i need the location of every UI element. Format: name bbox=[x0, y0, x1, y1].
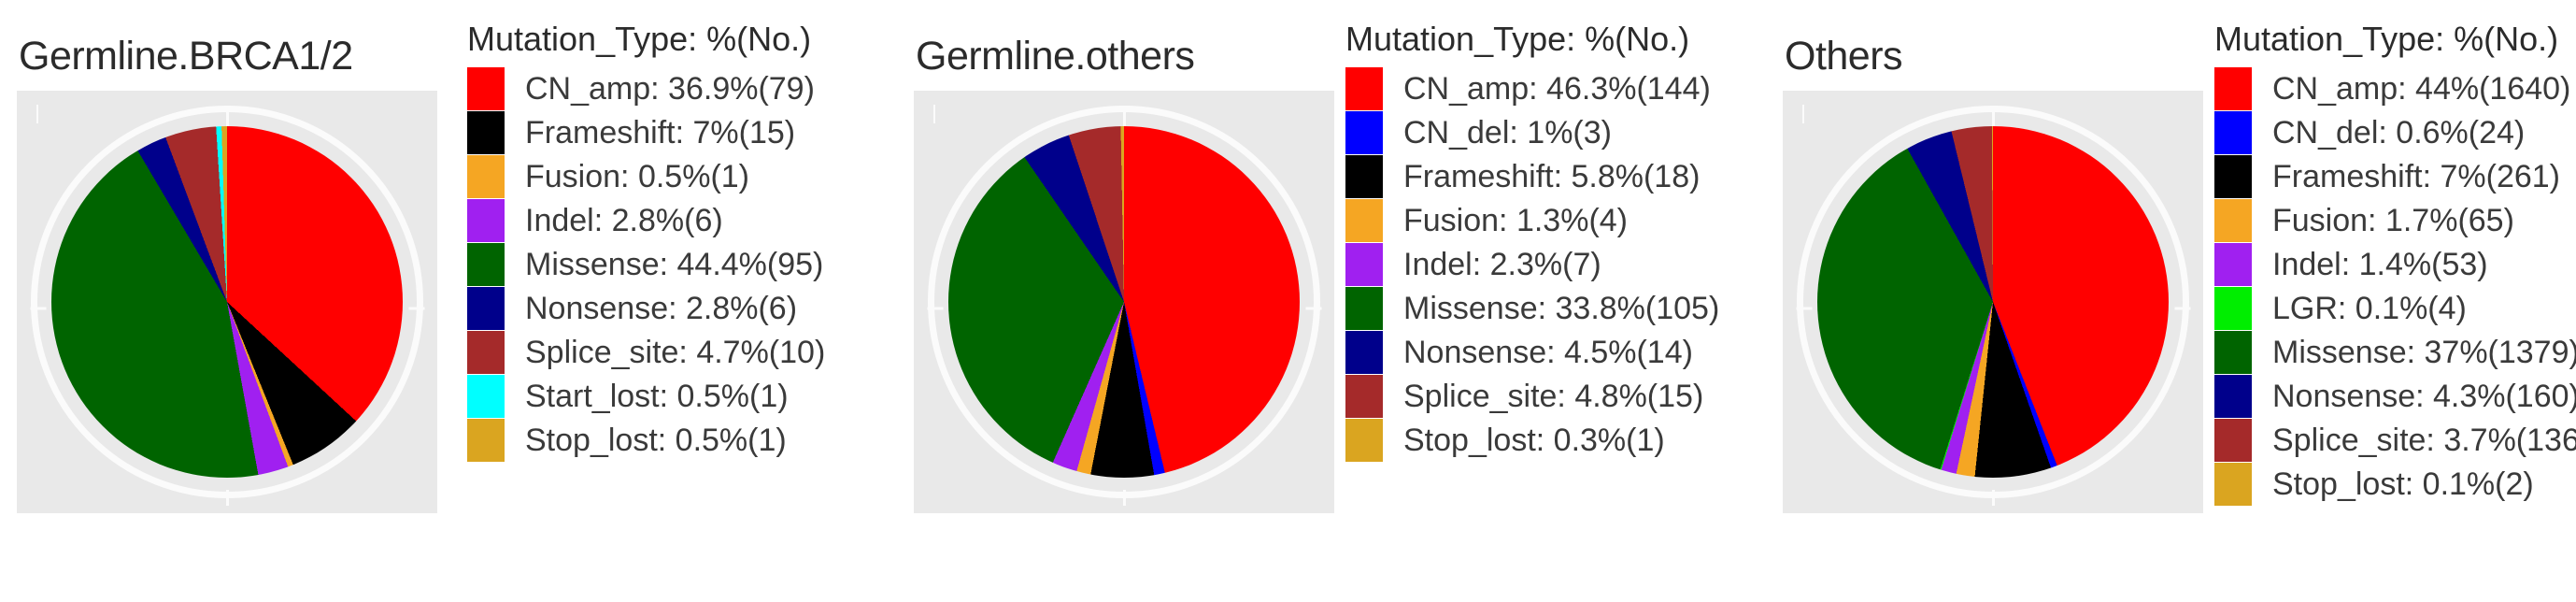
ring-tick bbox=[1305, 308, 1321, 310]
legend-label: Fusion: 1.3%(4) bbox=[1403, 205, 1628, 236]
legend-swatch-nonsense bbox=[1345, 331, 1383, 374]
legend-label: Frameshift: 5.8%(18) bbox=[1403, 161, 1700, 193]
legend-swatch-indel bbox=[467, 199, 505, 242]
legend-label: Start_lost: 0.5%(1) bbox=[525, 380, 789, 412]
legend-label: Indel: 2.8%(6) bbox=[525, 205, 723, 236]
legend-label: LGR: 0.1%(4) bbox=[2272, 293, 2467, 324]
legend-label: Splice_site: 4.7%(10) bbox=[525, 337, 825, 368]
legend-swatch-missense bbox=[1345, 287, 1383, 330]
legend-swatch-cn_del bbox=[2214, 111, 2252, 154]
legend-item-cn_amp[interactable]: CN_amp: 44%(1640) bbox=[2214, 67, 2576, 111]
legend-item-cn_del[interactable]: CN_del: 0.6%(24) bbox=[2214, 111, 2576, 155]
legend-item-cn_amp[interactable]: CN_amp: 46.3%(144) bbox=[1345, 67, 1719, 111]
legend-item-fusion[interactable]: Fusion: 0.5%(1) bbox=[467, 155, 825, 199]
ring-tick bbox=[1992, 490, 1995, 506]
ring-tick bbox=[226, 490, 229, 506]
legend-item-nonsense[interactable]: Nonsense: 2.8%(6) bbox=[467, 287, 825, 331]
legend-swatch-cn_amp bbox=[1345, 67, 1383, 110]
mutation-type-pie-figure: Germline.BRCA1/2Mutation_Type: %(No.)CN_… bbox=[0, 0, 2576, 602]
legend-item-stop_lost[interactable]: Stop_lost: 0.5%(1) bbox=[467, 419, 825, 463]
legend-item-fusion[interactable]: Fusion: 1.7%(65) bbox=[2214, 199, 2576, 243]
legend-2: Mutation_Type: %(No.)CN_amp: 46.3%(144)C… bbox=[1345, 21, 1719, 463]
legend-swatch-frameshift bbox=[2214, 155, 2252, 198]
legend-label: Stop_lost: 0.3%(1) bbox=[1403, 424, 1665, 456]
legend-swatch-nonsense bbox=[467, 287, 505, 330]
pie-chart[interactable] bbox=[31, 106, 423, 498]
legend-1: Mutation_Type: %(No.)CN_amp: 36.9%(79)Fr… bbox=[467, 21, 825, 463]
legend-label: Fusion: 1.7%(65) bbox=[2272, 205, 2514, 236]
legend-item-splice_site[interactable]: Splice_site: 4.8%(15) bbox=[1345, 375, 1719, 419]
legend-swatch-start_lost bbox=[467, 375, 505, 418]
legend-item-missense[interactable]: Missense: 44.4%(95) bbox=[467, 243, 825, 287]
legend-swatch-missense bbox=[467, 243, 505, 286]
legend-swatch-fusion bbox=[2214, 199, 2252, 242]
legend-label: Fusion: 0.5%(1) bbox=[525, 161, 749, 193]
panel-title: Germline.others bbox=[916, 34, 1194, 79]
legend-3: Mutation_Type: %(No.)CN_amp: 44%(1640)CN… bbox=[2214, 21, 2576, 507]
legend-label: Missense: 37%(1379) bbox=[2272, 337, 2576, 368]
legend-item-frameshift[interactable]: Frameshift: 7%(15) bbox=[467, 111, 825, 155]
legend-swatch-fusion bbox=[1345, 199, 1383, 242]
legend-item-missense[interactable]: Missense: 37%(1379) bbox=[2214, 331, 2576, 375]
legend-item-frameshift[interactable]: Frameshift: 5.8%(18) bbox=[1345, 155, 1719, 199]
legend-item-cn_amp[interactable]: CN_amp: 36.9%(79) bbox=[467, 67, 825, 111]
legend-label: Missense: 33.8%(105) bbox=[1403, 293, 1719, 324]
ring-tick bbox=[408, 308, 424, 310]
plot-area bbox=[17, 91, 437, 513]
legend-label: Frameshift: 7%(15) bbox=[525, 117, 795, 149]
legend-items: CN_amp: 36.9%(79)Frameshift: 7%(15)Fusio… bbox=[467, 67, 825, 463]
ring-tick bbox=[1123, 111, 1126, 127]
legend-item-stop_lost[interactable]: Stop_lost: 0.3%(1) bbox=[1345, 419, 1719, 463]
legend-swatch-splice_site bbox=[2214, 419, 2252, 462]
legend-label: Indel: 1.4%(53) bbox=[2272, 249, 2488, 280]
legend-swatch-fusion bbox=[467, 155, 505, 198]
legend-swatch-indel bbox=[1345, 243, 1383, 286]
ring-tick bbox=[927, 308, 943, 310]
legend-swatch-lgr bbox=[2214, 287, 2252, 330]
legend-label: Splice_site: 3.7%(136) bbox=[2272, 424, 2576, 456]
legend-swatch-stop_lost bbox=[1345, 419, 1383, 462]
legend-swatch-cn_amp bbox=[467, 67, 505, 110]
legend-item-splice_site[interactable]: Splice_site: 3.7%(136) bbox=[2214, 419, 2576, 463]
legend-swatch-splice_site bbox=[1345, 375, 1383, 418]
legend-title: Mutation_Type: %(No.) bbox=[2214, 21, 2576, 58]
legend-swatch-stop_lost bbox=[2214, 463, 2252, 506]
legend-item-start_lost[interactable]: Start_lost: 0.5%(1) bbox=[467, 375, 825, 419]
ring-tick bbox=[1796, 308, 1812, 310]
legend-label: Splice_site: 4.8%(15) bbox=[1403, 380, 1703, 412]
panel-title: Germline.BRCA1/2 bbox=[19, 34, 353, 79]
legend-title: Mutation_Type: %(No.) bbox=[467, 21, 825, 58]
plot-area bbox=[914, 91, 1334, 513]
legend-label: Stop_lost: 0.5%(1) bbox=[525, 424, 787, 456]
legend-label: Nonsense: 4.5%(14) bbox=[1403, 337, 1693, 368]
legend-swatch-frameshift bbox=[467, 111, 505, 154]
pie-chart[interactable] bbox=[1797, 106, 2189, 498]
ring-tick bbox=[226, 111, 229, 127]
panel-title: Others bbox=[1785, 34, 1902, 79]
legend-item-fusion[interactable]: Fusion: 1.3%(4) bbox=[1345, 199, 1719, 243]
legend-label: Indel: 2.3%(7) bbox=[1403, 249, 1601, 280]
pie-chart[interactable] bbox=[928, 106, 1320, 498]
legend-label: Frameshift: 7%(261) bbox=[2272, 161, 2560, 193]
legend-swatch-cn_amp bbox=[2214, 67, 2252, 110]
ring-tick bbox=[2174, 308, 2190, 310]
legend-swatch-cn_del bbox=[1345, 111, 1383, 154]
ring-tick bbox=[1123, 490, 1126, 506]
legend-item-indel[interactable]: Indel: 1.4%(53) bbox=[2214, 243, 2576, 287]
legend-swatch-splice_site bbox=[467, 331, 505, 374]
plot-area bbox=[1783, 91, 2203, 513]
pie-slices[interactable] bbox=[51, 126, 403, 478]
legend-swatch-frameshift bbox=[1345, 155, 1383, 198]
legend-items: CN_amp: 44%(1640)CN_del: 0.6%(24)Framesh… bbox=[2214, 67, 2576, 507]
legend-label: Nonsense: 2.8%(6) bbox=[525, 293, 797, 324]
legend-item-stop_lost[interactable]: Stop_lost: 0.1%(2) bbox=[2214, 463, 2576, 507]
legend-item-missense[interactable]: Missense: 33.8%(105) bbox=[1345, 287, 1719, 331]
legend-item-lgr[interactable]: LGR: 0.1%(4) bbox=[2214, 287, 2576, 331]
legend-items: CN_amp: 46.3%(144)CN_del: 1%(3)Frameshif… bbox=[1345, 67, 1719, 463]
legend-swatch-indel bbox=[2214, 243, 2252, 286]
legend-swatch-stop_lost bbox=[467, 419, 505, 462]
legend-label: CN_del: 0.6%(24) bbox=[2272, 117, 2525, 149]
legend-item-nonsense[interactable]: Nonsense: 4.5%(14) bbox=[1345, 331, 1719, 375]
legend-title: Mutation_Type: %(No.) bbox=[1345, 21, 1719, 58]
legend-label: Missense: 44.4%(95) bbox=[525, 249, 823, 280]
legend-label: Nonsense: 4.3%(160) bbox=[2272, 380, 2576, 412]
legend-label: Stop_lost: 0.1%(2) bbox=[2272, 468, 2534, 500]
legend-item-splice_site[interactable]: Splice_site: 4.7%(10) bbox=[467, 331, 825, 375]
legend-item-frameshift[interactable]: Frameshift: 7%(261) bbox=[2214, 155, 2576, 199]
legend-item-cn_del[interactable]: CN_del: 1%(3) bbox=[1345, 111, 1719, 155]
legend-label: CN_del: 1%(3) bbox=[1403, 117, 1612, 149]
pie-slices[interactable] bbox=[1817, 126, 2169, 478]
ring-tick bbox=[1992, 111, 1995, 127]
pie-slices[interactable] bbox=[948, 126, 1300, 478]
legend-swatch-missense bbox=[2214, 331, 2252, 374]
legend-label: CN_amp: 36.9%(79) bbox=[525, 73, 815, 105]
legend-item-indel[interactable]: Indel: 2.3%(7) bbox=[1345, 243, 1719, 287]
legend-label: CN_amp: 46.3%(144) bbox=[1403, 73, 1711, 105]
legend-label: CN_amp: 44%(1640) bbox=[2272, 73, 2570, 105]
legend-item-indel[interactable]: Indel: 2.8%(6) bbox=[467, 199, 825, 243]
ring-tick bbox=[30, 308, 46, 310]
legend-swatch-nonsense bbox=[2214, 375, 2252, 418]
legend-item-nonsense[interactable]: Nonsense: 4.3%(160) bbox=[2214, 375, 2576, 419]
